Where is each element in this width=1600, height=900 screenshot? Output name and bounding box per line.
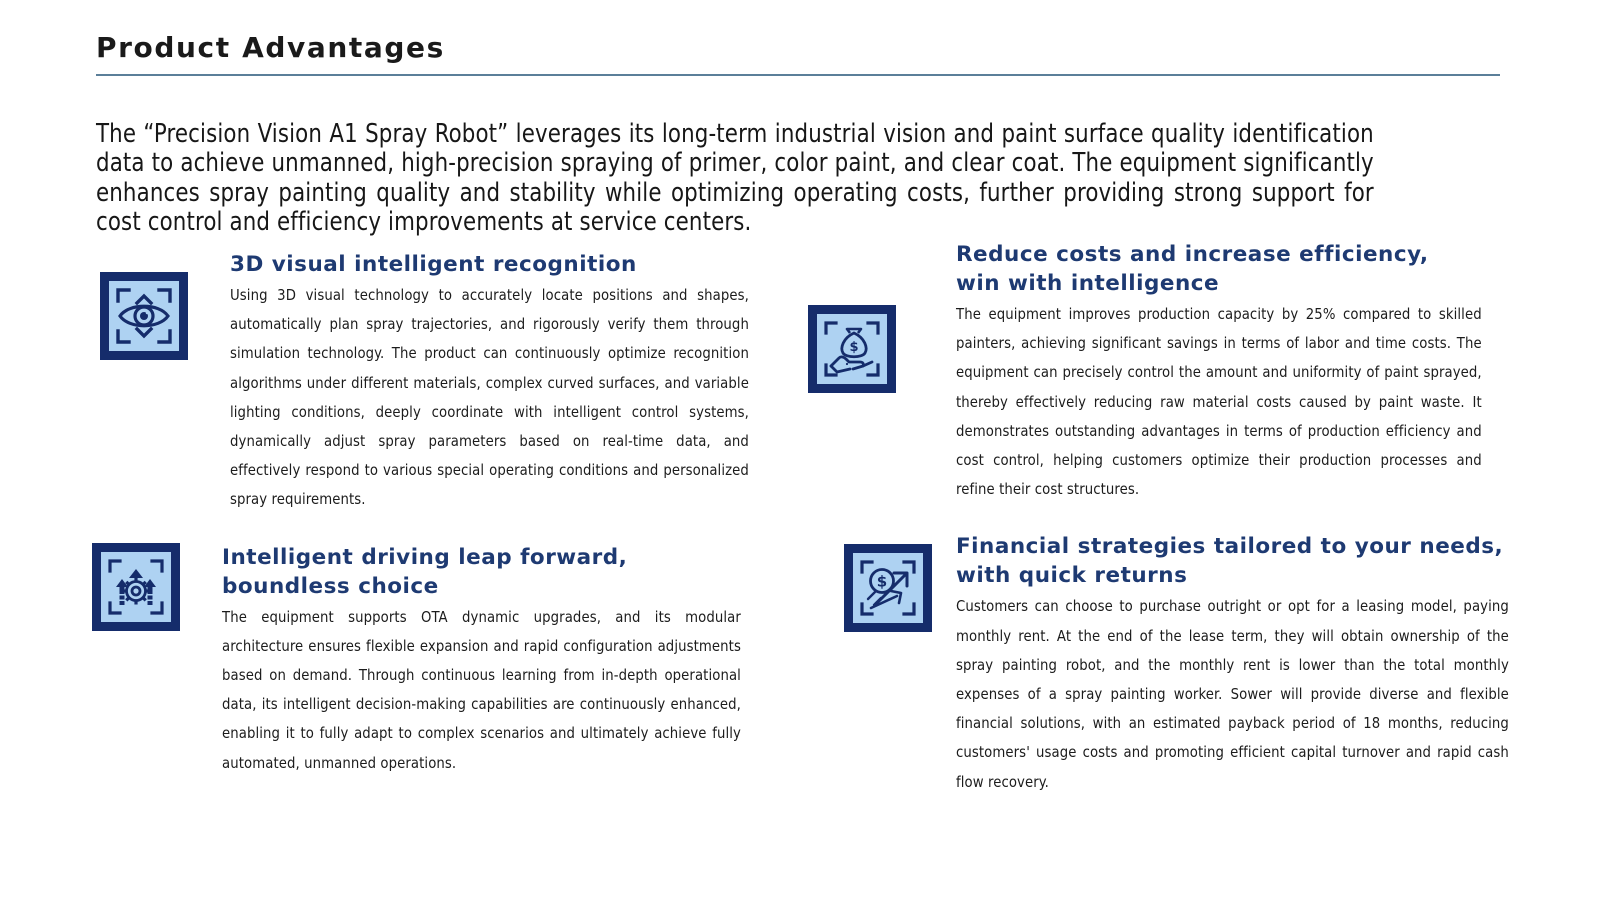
feature-card-reduce-costs: $ Reduce costs and increase efficiency, … (808, 240, 1528, 504)
feature-text: The equipment improves production capaci… (956, 300, 1482, 504)
hand-money-bag-icon-inner: $ (817, 314, 887, 384)
gear-upgrade-arrows-icon (92, 543, 180, 631)
feature-card-3d-visual-recognition: 3D visual intelligent recognition Using … (100, 250, 780, 515)
eye-scan-icon-svg (109, 281, 179, 351)
right-column: $ Reduce costs and increase efficiency, … (808, 240, 1528, 809)
feature-body: 3D visual intelligent recognition Using … (230, 250, 765, 515)
column-spacer (808, 516, 1528, 532)
feature-heading: Reduce costs and increase efficiency, wi… (956, 240, 1498, 298)
feature-heading: 3D visual intelligent recognition (230, 250, 765, 279)
svg-text:$: $ (849, 340, 858, 355)
feature-text: The equipment supports OTA dynamic upgra… (222, 603, 741, 778)
column-spacer (100, 527, 780, 543)
feature-text: Customers can choose to purchase outrigh… (956, 592, 1509, 796)
product-advantages-page: Product Advantages The “Precision Vision… (0, 0, 1600, 900)
page-header: Product Advantages (96, 32, 1500, 76)
hand-money-bag-icon-svg: $ (817, 314, 887, 384)
gear-upgrade-arrows-icon-svg (101, 552, 171, 622)
gear-upgrade-arrows-icon-inner (101, 552, 171, 622)
dollar-growth-arrow-icon: $ (844, 544, 932, 632)
intro-paragraph: The “Precision Vision A1 Spray Robot” le… (96, 120, 1374, 238)
feature-card-financial-strategies: $ Financial (808, 532, 1528, 796)
feature-heading: Intelligent driving leap forward, boundl… (222, 543, 757, 601)
left-column: 3D visual intelligent recognition Using … (100, 250, 780, 790)
feature-body: Reduce costs and increase efficiency, wi… (956, 240, 1498, 504)
feature-heading: Financial strategies tailored to your ne… (956, 532, 1526, 590)
hand-money-bag-icon: $ (808, 305, 896, 393)
title-divider (96, 74, 1500, 76)
eye-scan-icon-inner (109, 281, 179, 351)
eye-scan-icon (100, 272, 188, 360)
feature-body: Financial strategies tailored to your ne… (956, 532, 1526, 796)
dollar-growth-arrow-icon-inner: $ (853, 553, 923, 623)
svg-text:$: $ (877, 573, 887, 591)
dollar-growth-arrow-icon-svg: $ (853, 553, 923, 623)
page-title: Product Advantages (96, 32, 1500, 74)
feature-card-intelligent-driving: Intelligent driving leap forward, boundl… (100, 543, 780, 778)
feature-text: Using 3D visual technology to accurately… (230, 281, 749, 515)
feature-body: Intelligent driving leap forward, boundl… (222, 543, 757, 778)
